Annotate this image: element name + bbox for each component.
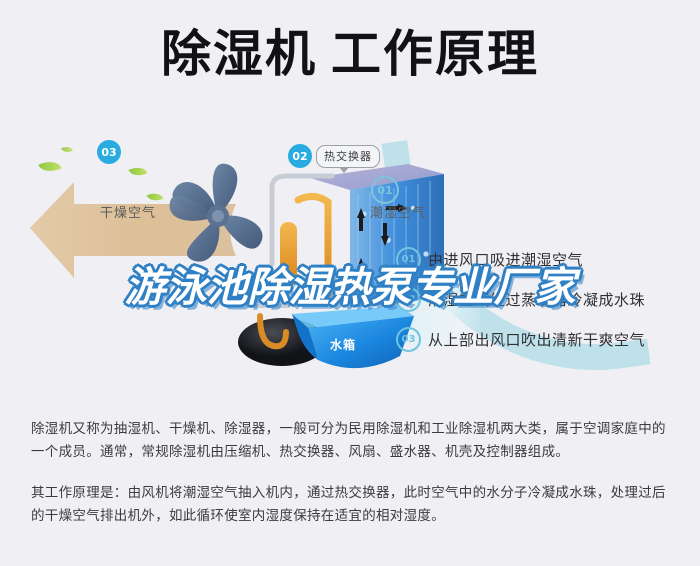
step-text: 由进风口吸进潮湿空气: [428, 249, 583, 270]
poster-root: 除湿机工作原理: [0, 0, 700, 566]
leaf-icon: [40, 160, 60, 173]
step-text: 从上部出风口吹出清新干爽空气: [428, 329, 645, 350]
diagram-badge-03: 03: [97, 140, 121, 164]
step-number: 01: [396, 247, 421, 272]
diagram-badge-01: 01: [371, 176, 399, 204]
step-text: 潮湿空气经过蒸发器冷凝成水珠: [428, 289, 645, 310]
steps-list: 01 由进风口吸进潮湿空气 02 潮湿空气经过蒸发器冷凝成水珠 03 从上部出风…: [396, 248, 696, 368]
moist-air-label: 潮湿空气: [370, 202, 426, 221]
list-item: 03 从上部出风口吹出清新干爽空气: [396, 328, 696, 350]
water-tank-label: 水箱: [330, 336, 356, 353]
title-part-2: 工作原理: [331, 25, 539, 83]
leaf-icon: [62, 146, 72, 153]
step-number: 02: [396, 287, 421, 312]
paragraph-1: 除湿机又称为抽湿机、干燥机、除湿器，一般可分为民用除湿机和工业除湿机两大类，属于…: [31, 418, 671, 464]
paragraph-2: 其工作原理是：由风机将潮湿空气抽入机内，通过热交换器，此时空气中的水分子冷凝成水…: [31, 482, 671, 528]
page-title: 除湿机工作原理: [0, 24, 700, 84]
diagram-badge-02: 02: [288, 144, 312, 168]
list-item: 02 潮湿空气经过蒸发器冷凝成水珠: [396, 288, 696, 310]
leaf-icon: [130, 166, 146, 177]
step-number: 03: [396, 327, 421, 352]
dry-air-label: 干燥空气: [100, 202, 156, 221]
heat-exchanger-callout: 热交换器: [316, 145, 380, 168]
title-part-1: 除湿机: [161, 25, 317, 83]
list-item: 01 由进风口吸进潮湿空气: [396, 248, 696, 270]
description-block: 除湿机又称为抽湿机、干燥机、除湿器，一般可分为民用除湿机和工业除湿机两大类，属于…: [31, 418, 671, 528]
